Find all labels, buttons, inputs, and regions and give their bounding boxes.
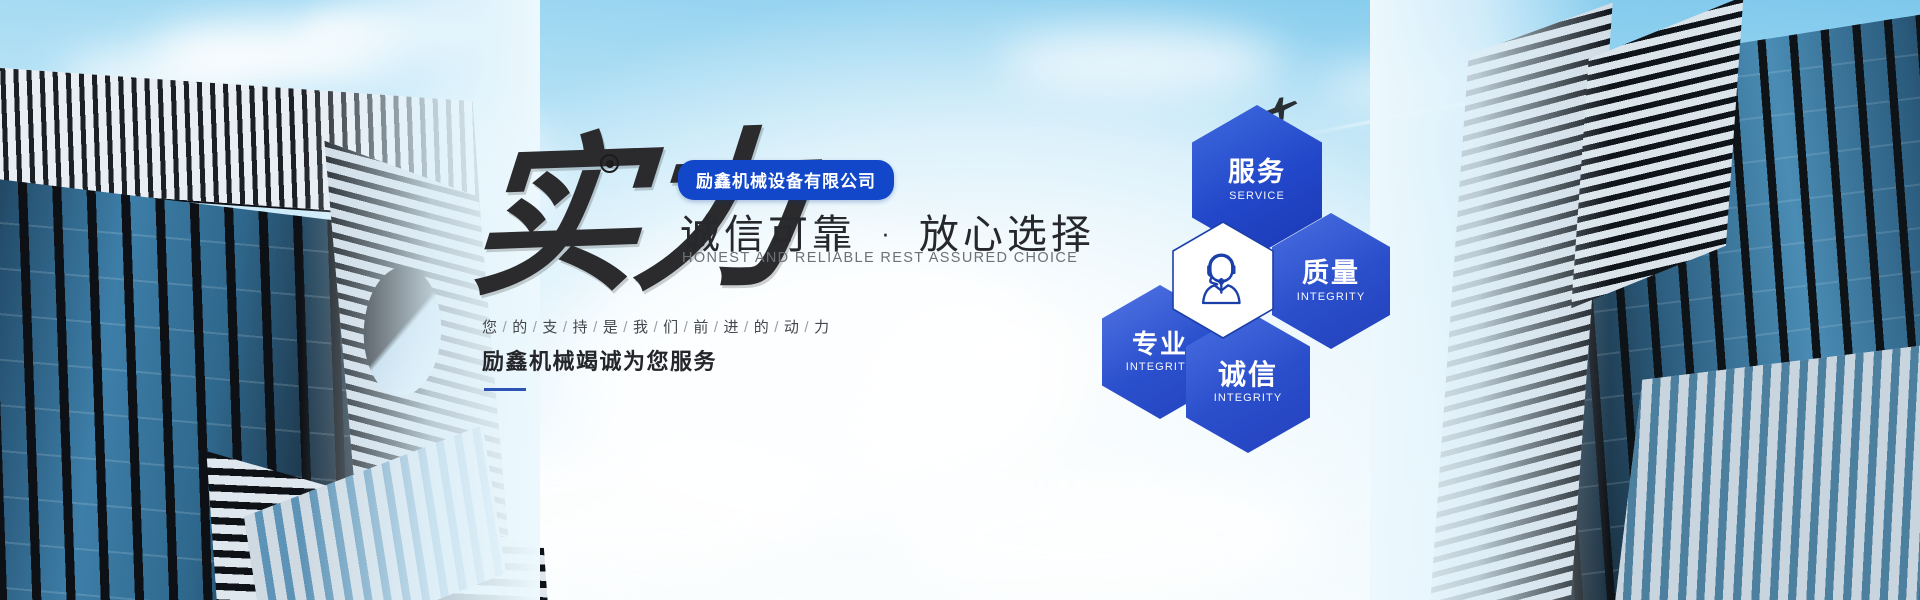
tagline-word: 您: [482, 319, 498, 336]
tagline-word: 支: [542, 319, 558, 336]
hex-trust-label-cn: 诚信: [1218, 360, 1278, 389]
tagline-separator: /: [528, 319, 543, 336]
tagline-separator: /: [739, 319, 754, 336]
tagline-separator: /: [799, 319, 814, 336]
building-right-secondary: [1615, 343, 1920, 600]
hex-professional-label-cn: 专业: [1132, 331, 1188, 358]
customer-service-agent-icon: [1203, 255, 1239, 303]
hex-quality-label-en: INTEGRITY: [1297, 291, 1366, 303]
tagline-separator: /: [709, 319, 724, 336]
tagline-word: 持: [573, 319, 589, 336]
tagline-word: 们: [663, 319, 679, 336]
tagline-word: 是: [603, 319, 619, 336]
target-dot-icon: [600, 154, 619, 173]
tagline-separator: /: [588, 319, 603, 336]
value-hexagon-cluster: 服务 SERVICE 质量 INTEGRITY 专业 INTEGRITY 诚信 …: [1130, 105, 1430, 505]
company-name-badge: 励鑫机械设备有限公司: [678, 160, 894, 200]
building-windows-grid: [1611, 342, 1920, 600]
hex-quality-label-cn: 质量: [1302, 259, 1360, 287]
hex-professional-label-en: INTEGRITY: [1126, 361, 1195, 373]
tagline-word: 进: [724, 319, 740, 336]
tagline-secondary: 励鑫机械竭诚为您服务: [482, 344, 717, 376]
tagline-word: 的: [754, 319, 770, 336]
tagline-word: 力: [814, 319, 830, 336]
slogan-en: HONEST AND RELIABLE REST ASSURED CHOICE: [682, 250, 1078, 266]
hero-banner: 实力 励鑫机械设备有限公司 诚信可靠 · 放心选择 HONEST AND REL…: [0, 0, 1920, 600]
tagline-separator: /: [769, 319, 784, 336]
tagline-separator: /: [558, 319, 573, 336]
tagline-separator: /: [498, 319, 513, 336]
hex-service-label-en: SERVICE: [1229, 190, 1285, 202]
tagline-separator: /: [618, 319, 633, 336]
slogan-separator: ·: [871, 218, 904, 248]
accent-rule: [484, 388, 526, 391]
tagline-separator: /: [648, 319, 663, 336]
tagline-words: 您/的/支/持/是/我/们/前/进/的/动/力: [482, 316, 830, 337]
banner-copy: 实力 励鑫机械设备有限公司 诚信可靠 · 放心选择 HONEST AND REL…: [470, 120, 1030, 420]
tagline-separator: /: [679, 319, 694, 336]
hex-service-label-cn: 服务: [1228, 158, 1286, 186]
tagline-word: 我: [633, 319, 649, 336]
tagline-word: 的: [512, 319, 528, 336]
tagline-word: 动: [784, 319, 800, 336]
tagline-word: 前: [693, 319, 709, 336]
hex-trust-label-en: INTEGRITY: [1214, 392, 1283, 404]
cloud: [1000, 30, 1280, 94]
